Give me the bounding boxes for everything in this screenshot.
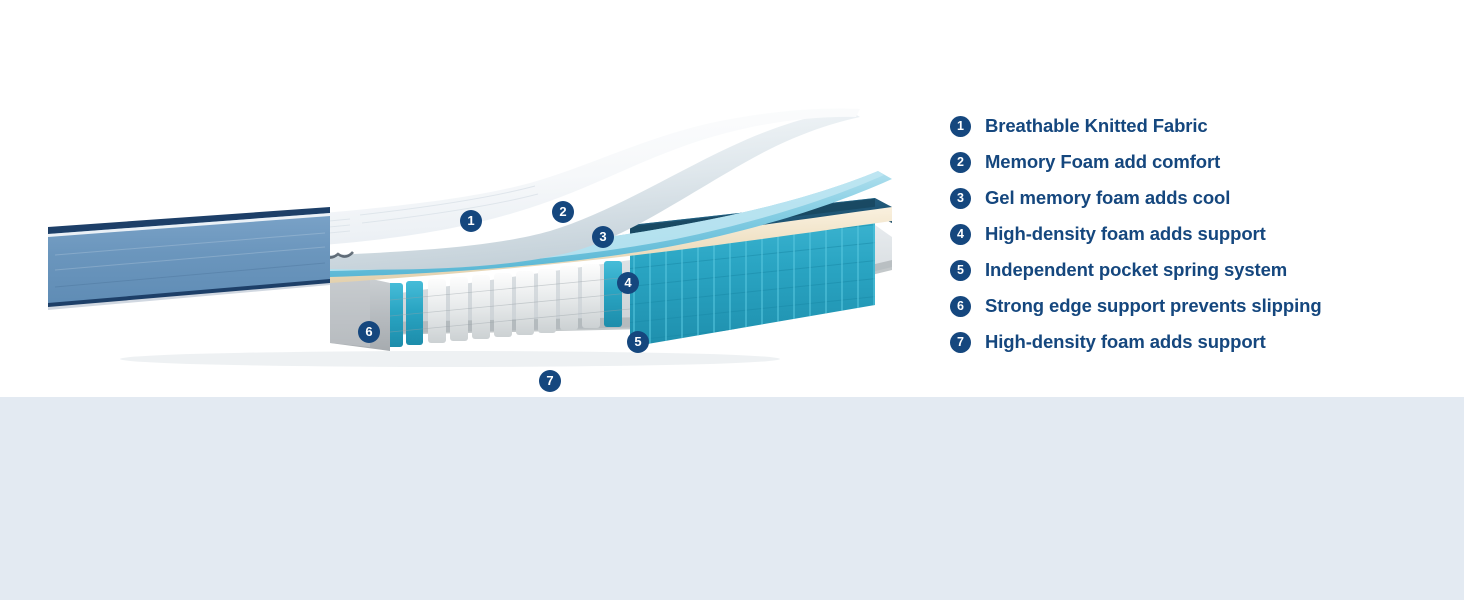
feature-badge-4: 4 — [950, 224, 971, 245]
feature-list: 1 Breathable Knitted Fabric 2 Memory Foa… — [950, 108, 1430, 360]
feature-row-1: 1 Breathable Knitted Fabric — [950, 108, 1430, 144]
mattress-callout-5: 5 — [627, 331, 649, 353]
feature-row-2: 2 Memory Foam add comfort — [950, 144, 1430, 180]
feature-badge-6: 6 — [950, 296, 971, 317]
infographic-page: 1 2 3 4 5 6 7 1 Breathable Knitted Fabri… — [0, 0, 1464, 600]
mattress-callout-7: 7 — [539, 370, 561, 392]
feature-row-4: 4 High-density foam adds support — [950, 216, 1430, 252]
mattress-cutaway-illustration: 1 2 3 4 5 6 7 — [30, 55, 930, 375]
feature-badge-2: 2 — [950, 152, 971, 173]
product-layers-section: 1 2 3 4 5 6 7 1 Breathable Knitted Fabri… — [0, 0, 1464, 397]
feature-label-5: Independent pocket spring system — [985, 259, 1287, 281]
feature-row-5: 5 Independent pocket spring system — [950, 252, 1430, 288]
feature-label-1: Breathable Knitted Fabric — [985, 115, 1208, 137]
mattress-callout-3: 3 — [592, 226, 614, 248]
feature-label-3: Gel memory foam adds cool — [985, 187, 1230, 209]
feature-row-7: 7 High-density foam adds support — [950, 324, 1430, 360]
feature-label-7: High-density foam adds support — [985, 331, 1266, 353]
mattress-shadow — [120, 351, 780, 367]
feature-badge-7: 7 — [950, 332, 971, 353]
feature-label-2: Memory Foam add comfort — [985, 151, 1220, 173]
mattress-callout-6: 6 — [358, 321, 380, 343]
multi-size-section: Multi-size for you to choose — [0, 397, 1464, 600]
feature-row-6: 6 Strong edge support prevents slipping — [950, 288, 1430, 324]
mattress-callout-4: 4 — [617, 272, 639, 294]
mattress-callout-1: 1 — [460, 210, 482, 232]
mattress-callout-2: 2 — [552, 201, 574, 223]
feature-badge-1: 1 — [950, 116, 971, 137]
feature-label-6: Strong edge support prevents slipping — [985, 295, 1322, 317]
feature-label-4: High-density foam adds support — [985, 223, 1266, 245]
feature-badge-5: 5 — [950, 260, 971, 281]
feature-badge-3: 3 — [950, 188, 971, 209]
feature-row-3: 3 Gel memory foam adds cool — [950, 180, 1430, 216]
